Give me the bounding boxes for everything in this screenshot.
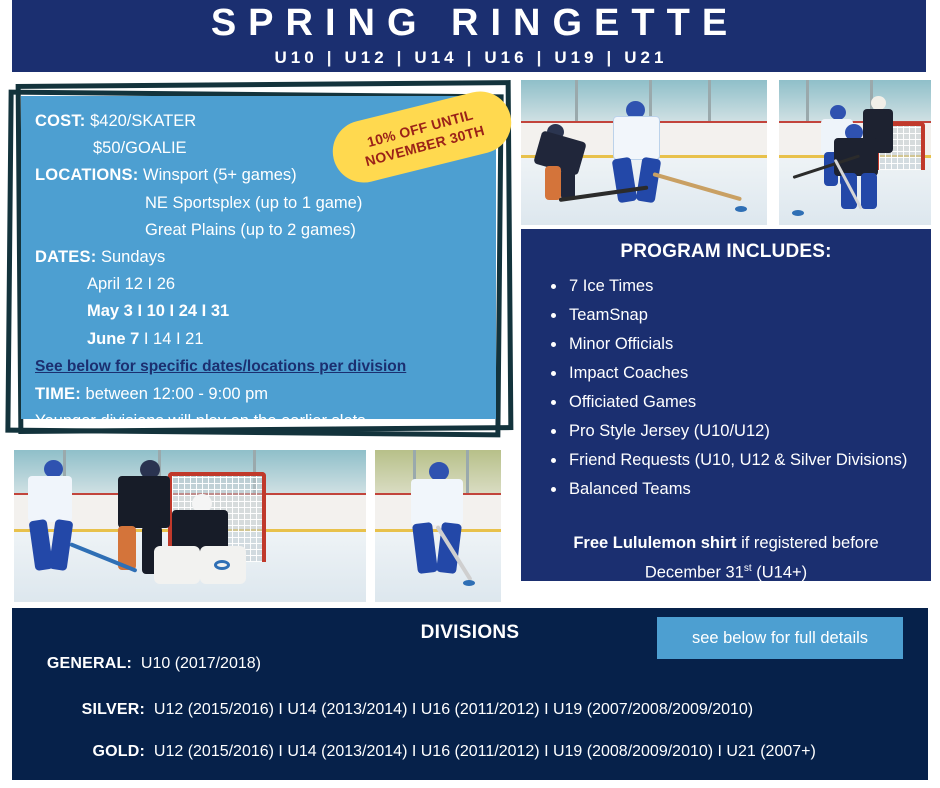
time-row: TIME: between 12:00 - 9:00 pm <box>35 381 482 408</box>
banner-separator: | <box>318 48 345 67</box>
division-label-gold: GOLD: <box>57 743 145 761</box>
page-title: SPRING RINGETTE <box>199 4 739 44</box>
poster-root: SPRING RINGETTE U10|U12|U14|U16|U19|U21 … <box>0 0 940 788</box>
bullet-icon <box>551 487 556 492</box>
free-shirt-bold: Free Lululemon shirt <box>573 534 736 552</box>
location-ne-sportsplex: NE Sportsplex (up to 1 game) <box>145 194 362 212</box>
list-item: Friend Requests (U10, U12 & Silver Divis… <box>535 446 917 475</box>
list-item-label: Balanced Teams <box>569 480 691 498</box>
location-row-3: Great Plains (up to 2 games) <box>35 217 482 244</box>
bullet-icon <box>551 284 556 289</box>
division-row-silver: SILVER: U12 (2015/2016) I U14 (2013/2014… <box>57 701 753 719</box>
cost-label: COST: <box>35 112 86 130</box>
photo-ringette-skater <box>375 450 501 602</box>
ringette-ring <box>735 206 747 212</box>
banner-division-u21: U21 <box>624 48 667 67</box>
bullet-icon <box>551 313 556 318</box>
photo-ringette-action-top-left <box>521 80 767 225</box>
younger-divisions-note: Younger divisions will play on the earli… <box>35 408 482 419</box>
time-value: between 12:00 - 9:00 pm <box>86 385 269 403</box>
glass-mullion <box>466 450 469 493</box>
ringette-ring <box>463 580 475 586</box>
location-winsport: Winsport (5+ games) <box>143 166 297 184</box>
banner-division-u14: U14 <box>414 48 457 67</box>
list-item-label: 7 Ice Times <box>569 277 653 295</box>
ringette-ring <box>792 210 804 216</box>
free-shirt-rest: if registered before <box>737 534 879 552</box>
dates-june-row: June 7 I 14 I 21 <box>35 326 482 353</box>
list-item-label: Officiated Games <box>569 393 696 411</box>
list-item: 7 Ice Times <box>535 272 917 301</box>
rink-glass <box>779 80 931 121</box>
free-shirt-date: December 31 <box>645 564 744 582</box>
glass-mullion <box>708 80 711 121</box>
program-includes-heading: PROGRAM INCLUDES: <box>535 241 917 263</box>
division-label-general: GENERAL: <box>32 655 132 673</box>
list-item: Impact Coaches <box>535 359 917 388</box>
dates-may: May 3 I 10 I 24 I 31 <box>87 302 229 320</box>
division-label-silver: SILVER: <box>57 701 145 719</box>
dates-may-row: May 3 I 10 I 24 I 31 <box>35 298 482 325</box>
photo-ringette-action-top-right <box>779 80 931 225</box>
list-item-label: Impact Coaches <box>569 364 688 382</box>
banner-division-u16: U16 <box>484 48 527 67</box>
banner-division-list: U10|U12|U14|U16|U19|U21 <box>271 48 668 68</box>
list-item-label: Minor Officials <box>569 335 673 353</box>
locations-label: LOCATIONS: <box>35 166 138 184</box>
bullet-icon <box>551 458 556 463</box>
banner-division-u10: U10 <box>275 48 318 67</box>
banner-separator: | <box>458 48 485 67</box>
dates-april-row: April 12 I 26 <box>35 271 482 298</box>
glass-mullion <box>806 80 809 121</box>
cost-goalie-value: $50/GOALIE <box>93 139 187 157</box>
list-item: Balanced Teams <box>535 475 917 504</box>
location-row-2: NE Sportsplex (up to 1 game) <box>35 190 482 217</box>
banner-division-u19: U19 <box>554 48 597 67</box>
banner-separator: | <box>528 48 555 67</box>
glass-mullion <box>649 80 652 121</box>
list-item: TeamSnap <box>535 301 917 330</box>
division-value-general: U10 (2017/2018) <box>141 655 261 672</box>
division-value-silver: U12 (2015/2016) I U14 (2013/2014) I U16 … <box>154 701 753 718</box>
division-row-gold: GOLD: U12 (2015/2016) I U14 (2013/2014) … <box>57 743 816 761</box>
location-great-plains: Great Plains (up to 2 games) <box>145 221 356 239</box>
divisions-panel: DIVISIONS see below for full details GEN… <box>12 608 928 780</box>
see-below-for-full-details-button[interactable]: see below for full details <box>657 617 903 659</box>
bullet-icon <box>551 429 556 434</box>
program-includes-list: 7 Ice Times TeamSnap Minor Officials Imp… <box>535 272 917 504</box>
bullet-icon <box>551 371 556 376</box>
division-row-general: GENERAL: U10 (2017/2018) <box>32 655 261 673</box>
see-below-link[interactable]: See below for specific dates/locations p… <box>35 353 482 381</box>
list-item: Minor Officials <box>535 330 917 359</box>
list-item: Officiated Games <box>535 388 917 417</box>
rink-glass <box>521 80 767 121</box>
header-banner: SPRING RINGETTE U10|U12|U14|U16|U19|U21 <box>12 0 926 72</box>
photo-ringette-goalie <box>14 450 366 602</box>
dates-value: Sundays <box>101 248 165 266</box>
list-item-label: Pro Style Jersey (U10/U12) <box>569 422 770 440</box>
program-includes-panel: PROGRAM INCLUDES: 7 Ice Times TeamSnap M… <box>521 229 931 581</box>
list-item-label: Friend Requests (U10, U12 & Silver Divis… <box>569 451 907 469</box>
free-shirt-offer: Free Lululemon shirt if registered befor… <box>535 530 917 586</box>
list-item-label: TeamSnap <box>569 306 648 324</box>
bullet-icon <box>551 400 556 405</box>
dates-april: April 12 I 26 <box>87 275 175 293</box>
division-value-gold: U12 (2015/2016) I U14 (2013/2014) I U16 … <box>154 743 816 760</box>
ringette-ring <box>214 560 230 570</box>
dates-row: DATES: Sundays <box>35 244 482 271</box>
banner-separator: | <box>388 48 415 67</box>
dates-june-bold: June 7 <box>87 330 139 348</box>
free-shirt-age: (U14+) <box>752 564 807 582</box>
dates-label: DATES: <box>35 248 96 266</box>
dates-june-rest: I 14 I 21 <box>144 330 204 348</box>
cost-value: $420/SKATER <box>90 112 196 130</box>
bullet-icon <box>551 342 556 347</box>
list-item: Pro Style Jersey (U10/U12) <box>535 417 917 446</box>
time-label: TIME: <box>35 385 81 403</box>
free-shirt-date-suffix: st <box>744 563 752 574</box>
banner-separator: | <box>598 48 625 67</box>
banner-division-u12: U12 <box>344 48 387 67</box>
glass-mullion <box>575 80 578 121</box>
